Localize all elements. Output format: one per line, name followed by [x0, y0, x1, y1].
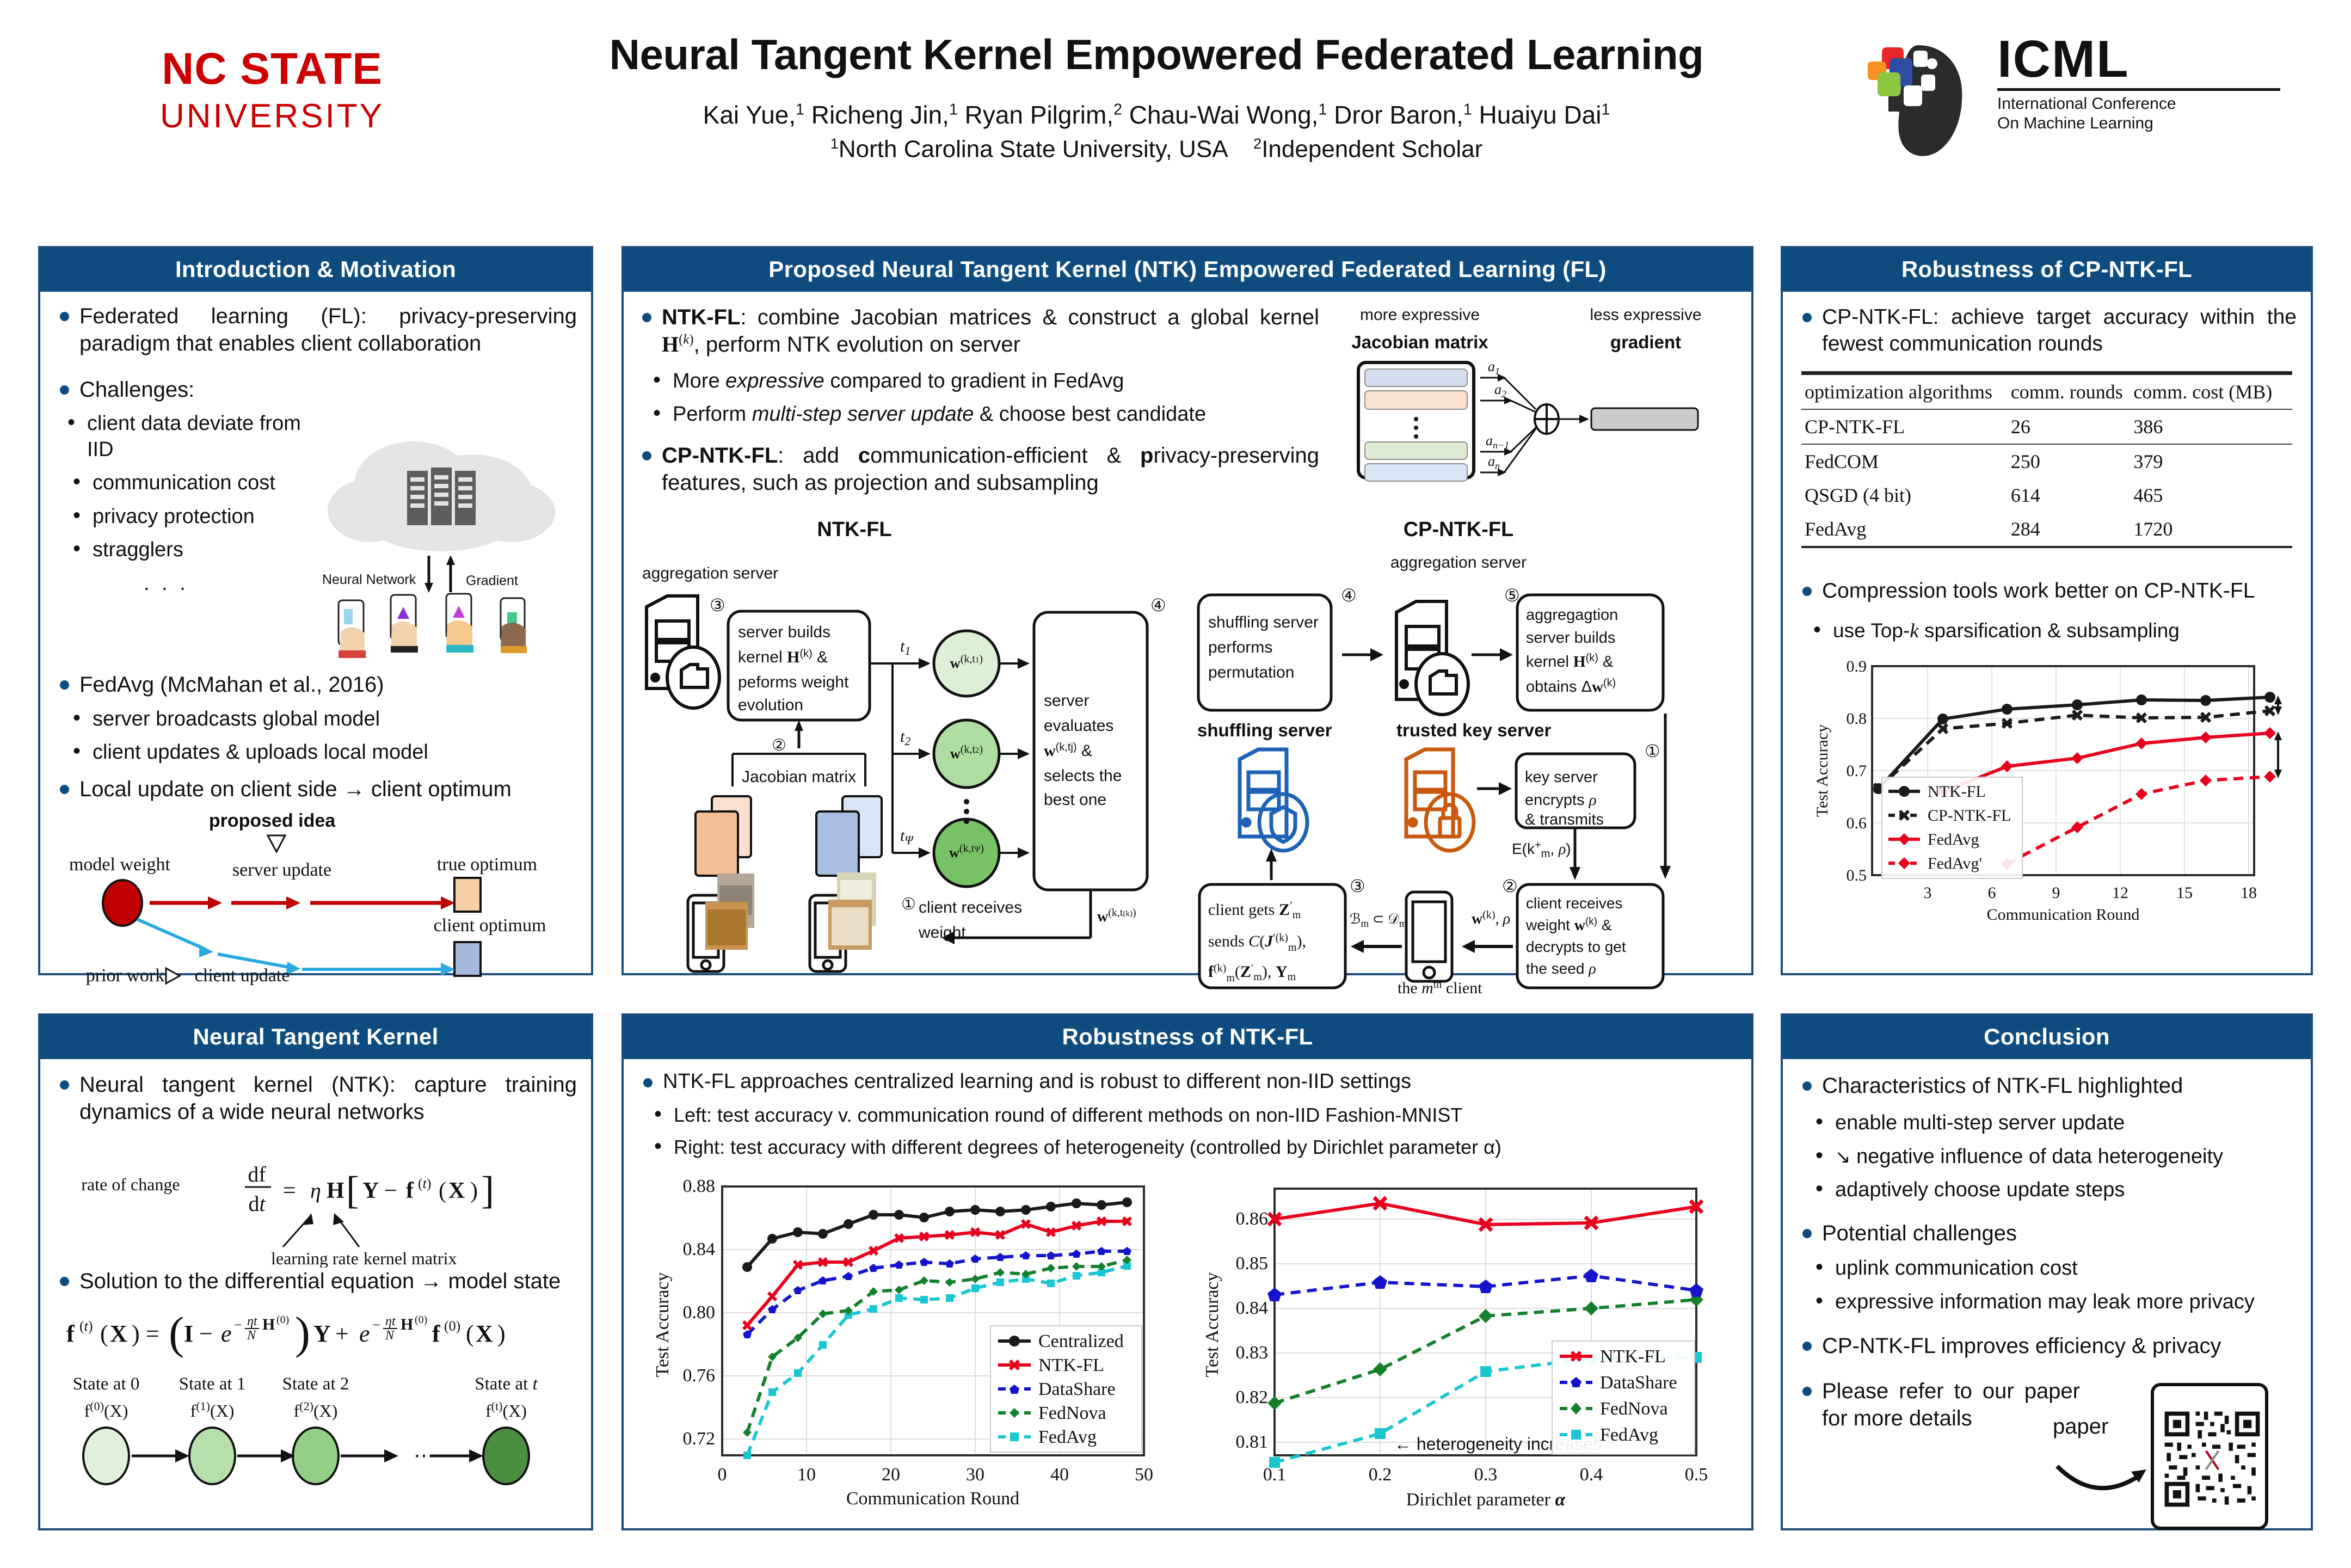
- cpntkfl-batch-label: ℬm ⊂ 𝒟m: [1350, 911, 1407, 930]
- icml-head-icon: [1867, 35, 1986, 161]
- panel-proposed-body: NTK-FL: combine Jacobian matrices & cons…: [624, 292, 1751, 996]
- cpntkfl-step-1-marker: ①: [1645, 741, 1660, 761]
- icml-sub-line1: International Conference: [1997, 94, 2280, 113]
- icml-abbr: ICML: [1997, 34, 2280, 84]
- svg-text:0.6: 0.6: [1847, 814, 1867, 832]
- svg-text:evolution: evolution: [738, 696, 803, 714]
- svg-text:X: X: [110, 1320, 127, 1347]
- chart1-xlabel: Communication Round: [846, 1489, 1019, 1509]
- svg-text:0.8: 0.8: [1847, 710, 1867, 728]
- qr-code[interactable]: [2151, 1383, 2268, 1530]
- svg-text:f(2)(X): f(2)(X): [294, 1399, 338, 1421]
- svg-text:−: −: [199, 1320, 213, 1347]
- svg-text:15: 15: [2176, 884, 2193, 902]
- svg-text:0.88: 0.88: [683, 1176, 716, 1196]
- svg-text:): ): [132, 1320, 140, 1347]
- svg-text:): ): [470, 1178, 478, 1203]
- svg-text:0.4: 0.4: [1580, 1465, 1603, 1485]
- ntkfl-aggregation-server-label: aggregation server: [642, 564, 778, 582]
- neural-network-label: Neural Network: [322, 572, 416, 587]
- chart1-legend-fednova: FedNova: [1038, 1403, 1106, 1423]
- svg-text:client gets Z′m: client gets Z′m: [1208, 899, 1301, 921]
- panel-proposed-title: Proposed Neural Tangent Kernel (NTK) Emp…: [624, 248, 1751, 292]
- cpntkfl-diagram-title: CP-NTK-FL: [1404, 518, 1514, 541]
- state-label-2: State at 2: [282, 1374, 349, 1394]
- ntkfl-step-1-marker: ①: [901, 895, 916, 913]
- svg-text:Y: Y: [313, 1320, 331, 1347]
- results-table: optimization algorithms comm. rounds com…: [1801, 371, 2292, 548]
- model-weight-label: model weight: [69, 854, 171, 875]
- svg-text:40: 40: [1050, 1465, 1069, 1485]
- svg-text:(0): (0): [444, 1318, 460, 1334]
- svg-text:permutation: permutation: [1208, 663, 1294, 681]
- svg-text:[: [: [346, 1169, 359, 1212]
- svg-text:key server: key server: [1525, 768, 1598, 786]
- table-cell-algo: FedCOM: [1801, 444, 2008, 478]
- chart3-legend-fednova: FedNova: [1600, 1399, 1668, 1419]
- svg-text:client receives: client receives: [919, 899, 1022, 917]
- panel-robustness-ntkfl: Robustness of NTK-FL NTK-FL approaches c…: [621, 1013, 1753, 1530]
- cpntkfl-mth-client-label: the mth client: [1398, 979, 1482, 993]
- icml-wordmark: ICML International Conference On Machine…: [1997, 34, 2280, 133]
- cpntkfl-trusted-key-server-title: trusted key server: [1396, 720, 1551, 740]
- cpntkfl-step-4-marker: ④: [1341, 586, 1357, 605]
- conclusion-bullet-2: Potential challenges: [1797, 1220, 2297, 1247]
- proposed-sub-2: Perform multi-step server update & choos…: [649, 402, 1319, 428]
- panel-neural-tangent-kernel: Neural Tangent Kernel Neural tangent ker…: [38, 1013, 593, 1530]
- ntkfl-diagram-title: NTK-FL: [817, 518, 891, 541]
- ntkfl-weight-label: w(k,t(k)): [1097, 907, 1136, 925]
- cpntkfl-shuffling-server-title: shuffling server: [1197, 720, 1332, 740]
- true-optimum-node: [454, 878, 481, 912]
- jacobian-a1-label: a1: [1488, 359, 1500, 377]
- table-cell-cost: 379: [2130, 444, 2292, 478]
- svg-text:H: H: [262, 1315, 275, 1333]
- ntk-ode-equation: rate of change df dt = η H [ Y − f (t) (…: [54, 1132, 577, 1268]
- intro-challenge-2: communication cost: [69, 470, 310, 496]
- svg-text:performs: performs: [1208, 638, 1272, 656]
- chart2-legend-ntkfl: NTK-FL: [1928, 783, 1986, 801]
- ntkfl-step-4-marker: ④: [1150, 595, 1166, 615]
- svg-text:peforms weight: peforms weight: [738, 673, 849, 691]
- proposed-bullet-cpntkfl: CP-NTK-FL: add communication-efficient &…: [637, 442, 1319, 497]
- decrease-arrow-icon: ↘: [1835, 1146, 1851, 1169]
- curved-arrow-icon: [2053, 1441, 2162, 1501]
- svg-text:f(1)(X): f(1)(X): [190, 1399, 235, 1421]
- svg-text:server builds: server builds: [1526, 629, 1615, 647]
- trusted-key-server-icon: [1406, 749, 1474, 851]
- table-row: FedCOM 250 379: [1801, 444, 2292, 478]
- svg-text:kernel H(k) &: kernel H(k) &: [738, 648, 828, 666]
- intro-fedavg-1: server broadcasts global model: [69, 706, 577, 733]
- proposed-sub-1: More expressive compared to gradient in …: [649, 368, 1319, 395]
- chart3-legend-ntkfl: NTK-FL: [1600, 1346, 1666, 1367]
- more-expressive-label: more expressive: [1360, 306, 1480, 324]
- chart2-ylabel: Test Accuracy: [1813, 724, 1831, 816]
- svg-text:0.82: 0.82: [1236, 1387, 1269, 1407]
- svg-text:e: e: [359, 1320, 370, 1347]
- chart1-legend-ntkfl: NTK-FL: [1038, 1355, 1104, 1375]
- svg-text:client receives: client receives: [1526, 895, 1622, 912]
- svg-text:(: (: [100, 1320, 108, 1347]
- svg-text:0.7: 0.7: [1847, 762, 1867, 780]
- conclusion-sub-2: ↘ negative influence of data heterogenei…: [1811, 1144, 2297, 1170]
- cpntkfl-client-phone-icon: [1406, 892, 1452, 981]
- chart2-legend-fedavg: FedAvg: [1928, 831, 1979, 848]
- poster-root: NC STATE UNIVERSITY Neural Tangent Kerne…: [0, 0, 2351, 1567]
- intro-challenge-1: client data deviate from IID: [63, 411, 310, 463]
- svg-text:=: =: [146, 1320, 159, 1347]
- ntkfl-jacobian-label: Jacobian matrix: [742, 768, 856, 786]
- svg-text:0.76: 0.76: [683, 1366, 716, 1386]
- svg-text:0.9: 0.9: [1847, 657, 1867, 675]
- panel-introduction-title: Introduction & Motivation: [40, 248, 591, 292]
- svg-text:server: server: [1044, 692, 1089, 710]
- rate-of-change-label: rate of change: [81, 1175, 180, 1194]
- chart2-legend-fedavgprime: FedAvg': [1928, 854, 1982, 872]
- nc-state-line2: UNIVERSITY: [82, 97, 463, 136]
- intro-fedavg-2: client updates & uploads local model: [69, 740, 577, 766]
- panel-ntk-body: Neural tangent kernel (NTK): capture tra…: [40, 1059, 591, 1517]
- ntkfl-architecture-diagram: NTK-FL aggregation server ③: [637, 514, 1186, 996]
- poster-header: NC STATE UNIVERSITY Neural Tangent Kerne…: [0, 0, 2351, 223]
- svg-text:(0): (0): [415, 1314, 427, 1326]
- gradient-vector-box: [1591, 408, 1698, 430]
- conclusion-bullet-3: CP-NTK-FL improves efficiency & privacy: [1797, 1332, 2297, 1360]
- ntkfl-step-3-marker: ③: [710, 595, 725, 615]
- svg-text:selects the: selects the: [1044, 767, 1122, 785]
- svg-text:ηt: ηt: [247, 1314, 258, 1329]
- svg-text:20: 20: [882, 1465, 900, 1485]
- chart1-legend-centralized: Centralized: [1038, 1331, 1124, 1351]
- svg-text:0.84: 0.84: [683, 1239, 716, 1259]
- svg-text:9: 9: [2052, 884, 2060, 902]
- svg-text:decrypts to get: decrypts to get: [1526, 938, 1626, 955]
- ntk-state-chain-diagram: State at 0 State at 1 State at 2 State a…: [54, 1370, 577, 1506]
- icml-divider: [1997, 88, 2280, 91]
- state-label-0: State at 0: [73, 1374, 140, 1394]
- proposed-idea-diagram: proposed idea model weight server update…: [54, 806, 577, 986]
- table-cell-rounds: 250: [2008, 444, 2131, 478]
- icml-logo: ICML International Conference On Machine…: [1867, 30, 2280, 166]
- panel-introduction-body: Federated learning (FL): privacy-preserv…: [40, 292, 591, 997]
- robust-cp-bullet-2: Compression tools work better on CP-NTK-…: [1797, 577, 2297, 604]
- panel-robustness-ntkfl-body: NTK-FL approaches centralized learning a…: [624, 1059, 1751, 1515]
- svg-text:]: ]: [481, 1169, 494, 1212]
- chart1-ylabel: Test Accuracy: [653, 1272, 673, 1377]
- conclusion-bullet-4: Please refer to our paper for more detai…: [1797, 1378, 2080, 1432]
- svg-text:): ): [295, 1308, 310, 1358]
- ntk-bullet-1: Neural tangent kernel (NTK): capture tra…: [54, 1071, 577, 1126]
- conclusion-sub-2-label: negative influence of data heterogeneity: [1856, 1145, 2223, 1168]
- learning-rate-annotation: learning rate: [271, 1249, 359, 1268]
- prior-work-marker-icon: [166, 968, 180, 983]
- ntk-bullet-2: Solution to the differential equation → …: [54, 1268, 577, 1295]
- jacobian-a2-label: a2: [1494, 382, 1506, 399]
- svg-text:f(0)(X): f(0)(X): [84, 1399, 128, 1421]
- svg-text:ηt: ηt: [385, 1314, 396, 1329]
- phone-hand-icons: [339, 594, 527, 658]
- robust-cp-sub-1: use Top-k sparsification & subsampling: [1809, 618, 2297, 644]
- table-col-rounds: comm. rounds: [2008, 374, 2131, 410]
- panel-conclusion-title: Conclusion: [1783, 1016, 2311, 1059]
- panel-conclusion: Conclusion Characteristics of NTK-FL hig…: [1781, 1013, 2313, 1530]
- svg-text:(: (: [169, 1308, 184, 1358]
- svg-text:): ): [497, 1320, 506, 1347]
- state-node-1: [189, 1428, 235, 1484]
- svg-text:X: X: [448, 1178, 465, 1203]
- ntkfl-client-receives-text: client receives weight: [918, 899, 1022, 942]
- upload-arrowhead: [446, 555, 455, 565]
- chart-dirichlet-heterogeneity: 0.860.85 0.840.83 0.820.81 0.10.20.3 0.4…: [1182, 1167, 1732, 1515]
- chart-cpntkfl-compression: 0.90.8 0.70.6 0.5 369 121518 Communicati…: [1797, 652, 2287, 946]
- table-cell-cost: 386: [2130, 409, 2292, 444]
- cpntkfl-step-2-marker: ②: [1502, 876, 1518, 896]
- chart2-fedavgprime-markers: [2001, 771, 2276, 870]
- table-cell-rounds: 26: [2008, 409, 2131, 444]
- svg-text:3: 3: [1924, 884, 1932, 902]
- svg-text:18: 18: [2241, 884, 2257, 902]
- jacobian-vs-gradient-figure: more expressive less expressive Jacobian…: [1325, 304, 1738, 511]
- svg-text:0: 0: [718, 1465, 727, 1485]
- robust-cp-bullet-1: CP-NTK-FL: achieve target accuracy withi…: [1797, 304, 2297, 357]
- svg-text:0.81: 0.81: [1236, 1432, 1269, 1452]
- proposed-idea-label: proposed idea: [209, 810, 336, 831]
- table-cell-cost: 465: [2130, 478, 2292, 512]
- svg-text:obtains Δw(k): obtains Δw(k): [1526, 677, 1616, 696]
- svg-text:50: 50: [1135, 1465, 1153, 1485]
- results-table-wrapper: optimization algorithms comm. rounds com…: [1797, 371, 2297, 548]
- gradient-label: Gradient: [466, 573, 518, 588]
- intro-challenge-5: . . .: [120, 571, 310, 597]
- svg-text:0.86: 0.86: [1236, 1209, 1269, 1229]
- cpntkfl-architecture-diagram: CP-NTK-FL aggregation server ④ shuffling…: [1186, 514, 1736, 996]
- jacobian-matrix-title: Jacobian matrix: [1351, 332, 1488, 352]
- table-col-cost: comm. cost (MB): [2130, 374, 2292, 410]
- state-node-2: [293, 1428, 339, 1484]
- chart3-legend: NTK-FL DataShare FedNova FedAvg: [1552, 1341, 1695, 1454]
- gradient-title: gradient: [1610, 332, 1681, 352]
- table-cell-rounds: 284: [2008, 512, 2131, 547]
- client-update-label: client update: [195, 966, 290, 986]
- panel-introduction: Introduction & Motivation Federated lear…: [38, 246, 593, 975]
- qr-paper-label: paper: [2053, 1415, 2162, 1439]
- cpntkfl-w-rho-label: w(k), ρ: [1472, 909, 1510, 927]
- intro-bullet-2: Challenges:: [54, 376, 577, 403]
- svg-text:aggregagtion: aggregagtion: [1526, 606, 1618, 624]
- svg-text:0.84: 0.84: [1236, 1298, 1269, 1318]
- svg-text:Y: Y: [362, 1178, 379, 1203]
- svg-text:0.80: 0.80: [683, 1302, 716, 1323]
- nc-state-logo: NC STATE UNIVERSITY: [82, 44, 463, 136]
- svg-text:dt: dt: [248, 1191, 266, 1216]
- less-expressive-label: less expressive: [1590, 306, 1701, 324]
- state-node-t: [483, 1428, 529, 1484]
- svg-text:the seed ρ: the seed ρ: [1526, 960, 1596, 977]
- svg-text:e: e: [221, 1320, 232, 1347]
- svg-text:& transmits: & transmits: [1525, 811, 1604, 828]
- ntkfl-tpsi-label: tΨ: [900, 827, 914, 847]
- author-list: Kai Yue,1 Richeng Jin,1 Ryan Pilgrim,2 C…: [490, 100, 1823, 130]
- server-rack-icon: [407, 468, 476, 525]
- cpntkfl-box3-text: client gets Z′m sends C(J′(k)m), f(k)m(Z…: [1208, 899, 1306, 984]
- svg-text:f: f: [432, 1320, 441, 1347]
- panel-robustness-cpntkfl: Robustness of CP-NTK-FL CP-NTK-FL: achie…: [1781, 246, 2313, 975]
- aggregation-server-icon: [647, 596, 719, 708]
- svg-text:weight w(k) &: weight w(k) &: [1525, 916, 1612, 934]
- svg-text:N: N: [247, 1329, 257, 1343]
- table-cell-rounds: 614: [2008, 478, 2131, 512]
- panel-conclusion-body: Characteristics of NTK-FL highlighted en…: [1783, 1059, 2311, 1568]
- panel-robustness-cpntkfl-body: CP-NTK-FL: achieve target accuracy withi…: [1783, 292, 2311, 957]
- table-cell-algo: QSGD (4 bit): [1801, 478, 2008, 512]
- conclusion-sub-4: uplink communication cost: [1811, 1256, 2297, 1282]
- svg-text:=: =: [283, 1178, 296, 1203]
- robust-ntk-sub-2: Right: test accuracy with different degr…: [650, 1135, 1737, 1159]
- svg-text:(: (: [439, 1178, 446, 1203]
- qr-paper-label-group: paper: [2053, 1415, 2162, 1504]
- conclusion-sub-3: adaptively choose update steps: [1811, 1177, 2297, 1203]
- svg-text:0.85: 0.85: [1236, 1253, 1269, 1274]
- cpntkfl-step-3-marker: ③: [1350, 876, 1365, 896]
- svg-text:+: +: [335, 1320, 349, 1347]
- table-header-row: optimization algorithms comm. rounds com…: [1801, 374, 2292, 410]
- cpntkfl-encryption-label: E(k+m, ρ): [1512, 839, 1571, 860]
- client-optimum-label: client optimum: [434, 915, 546, 936]
- intro-challenge-4: stragglers: [69, 537, 310, 563]
- svg-text:f: f: [406, 1178, 414, 1203]
- chart1-legend-fedavg: FedAvg: [1038, 1427, 1097, 1447]
- svg-text:−: −: [384, 1178, 397, 1203]
- svg-text:6: 6: [1988, 884, 1996, 902]
- intro-challenge-3: privacy protection: [69, 504, 310, 530]
- svg-text:evaluates: evaluates: [1044, 717, 1113, 735]
- robust-ntk-bullet-1: NTK-FL approaches centralized learning a…: [638, 1069, 1737, 1095]
- chart2-xlabel: Communication Round: [1987, 906, 2140, 924]
- fl-cloud-figure: Neural Network Gradient: [310, 421, 577, 666]
- proposed-idea-marker-icon: [268, 835, 285, 852]
- nc-state-line1: NC STATE: [82, 44, 463, 95]
- proposed-ntkfl-bold: NTK-FL: [662, 305, 740, 329]
- svg-text:0.2: 0.2: [1369, 1465, 1392, 1485]
- svg-text:0.5: 0.5: [1685, 1465, 1708, 1485]
- svg-text:f(t)(X): f(t)(X): [485, 1399, 527, 1421]
- cpntkfl-box1-text: key server encrypts ρ & transmits: [1525, 768, 1604, 828]
- svg-text:(: (: [466, 1320, 474, 1347]
- svg-text:H: H: [327, 1178, 344, 1203]
- chart-ntkfl-communication-round: 0.880.84 0.800.76 0.72 01020 304050 Comm…: [638, 1167, 1182, 1515]
- panel-proposed-method: Proposed Neural Tangent Kernel (NTK) Emp…: [621, 246, 1753, 975]
- qr-code-matrix: [2161, 1393, 2264, 1526]
- prior-work-label: prior work: [86, 966, 164, 986]
- title-block: Neural Tangent Kernel Empowered Federate…: [490, 30, 1823, 163]
- chart1-legend: Centralized NTK-FL DataShare FedNova Fed…: [990, 1326, 1142, 1452]
- client-optimum-node: [454, 942, 481, 976]
- panel-ntk-title: Neural Tangent Kernel: [40, 1016, 591, 1059]
- page-title: Neural Tangent Kernel Empowered Federate…: [490, 30, 1823, 79]
- ntkfl-t2-label: t2: [900, 728, 910, 748]
- table-cell-algo: FedAvg: [1801, 512, 2008, 547]
- table-cell-algo: CP-NTK-FL: [1801, 409, 2008, 444]
- conclusion-sub-1: enable multi-step server update: [1811, 1110, 2297, 1136]
- svg-text:η: η: [310, 1178, 321, 1203]
- intro-bullet-1: Federated learning (FL): privacy-preserv…: [54, 303, 577, 358]
- ntkfl-data-thumbnails: [705, 872, 876, 950]
- state-node-0: [83, 1428, 129, 1484]
- ntkfl-t1-label: t1: [900, 637, 910, 657]
- svg-text:encrypts ρ: encrypts ρ: [1525, 791, 1597, 809]
- chart3-legend-datashare: DataShare: [1600, 1373, 1677, 1393]
- svg-text:−: −: [372, 1317, 380, 1333]
- table-row: FedAvg 284 1720: [1801, 512, 2292, 547]
- table-row: QSGD (4 bit) 614 465: [1801, 478, 2292, 512]
- chart3-ylabel: Test Accuracy: [1202, 1272, 1222, 1377]
- chart1-legend-datashare: DataShare: [1038, 1379, 1116, 1399]
- svg-text:30: 30: [966, 1465, 984, 1485]
- proposed-bullet-ntkfl: NTK-FL: combine Jacobian matrices & cons…: [637, 304, 1319, 359]
- jacobian-an1-label: an−1: [1486, 433, 1509, 451]
- cpntkfl-aggregation-server-icon: [1396, 601, 1468, 715]
- intro-bullet-3: FedAvg (McMahan et al., 2016): [54, 671, 577, 698]
- intro-bullet-4: Local update on client side → client opt…: [54, 776, 577, 803]
- ntkfl-step-2-marker: ②: [772, 736, 786, 754]
- true-optimum-label: true optimum: [437, 854, 537, 875]
- svg-text:best one: best one: [1044, 791, 1106, 809]
- cpntkfl-aggregation-server-label: aggregation server: [1390, 554, 1527, 571]
- kernel-matrix-annotation: kernel matrix: [364, 1249, 457, 1268]
- jacobian-an-label: an: [1488, 453, 1500, 471]
- conclusion-sub-5: expressive information may leak more pri…: [1811, 1289, 2297, 1315]
- download-arrowhead: [424, 583, 433, 593]
- svg-text:weight: weight: [918, 924, 966, 942]
- svg-text:shuffling server: shuffling server: [1208, 613, 1319, 631]
- ntk-solution-equation: f (t) (X) = ( I − e − ηt N H (0): [54, 1296, 577, 1367]
- proposed-cpntkfl-bold: CP-NTK-FL: [662, 444, 778, 468]
- svg-text:0.72: 0.72: [683, 1429, 716, 1449]
- svg-text:kernel H(k) &: kernel H(k) &: [1526, 652, 1613, 671]
- svg-text:X: X: [476, 1320, 493, 1347]
- cpntkfl-step-5-marker: ⑤: [1504, 586, 1520, 605]
- state-chain-ellipsis: ⋯: [414, 1444, 434, 1467]
- table-cell-cost: 1720: [2130, 512, 2292, 547]
- svg-text:f: f: [66, 1320, 75, 1347]
- chart2-legend-cpntkfl: CP-NTK-FL: [1928, 807, 2011, 825]
- svg-text:H: H: [401, 1315, 413, 1333]
- svg-text:(t): (t): [418, 1176, 432, 1191]
- panel-robustness-ntkfl-title: Robustness of NTK-FL: [624, 1016, 1751, 1059]
- svg-text:(0): (0): [276, 1314, 289, 1326]
- affiliation-list: 1North Carolina State University, USA 2I…: [490, 135, 1823, 163]
- panel-robustness-cpntkfl-title: Robustness of CP-NTK-FL: [1783, 248, 2311, 292]
- svg-text:12: 12: [2112, 884, 2128, 902]
- svg-text:N: N: [385, 1329, 395, 1343]
- shuffling-server-icon: [1240, 749, 1307, 851]
- state-label-1: State at 1: [179, 1374, 246, 1394]
- chart2-legend: NTK-FL CP-NTK-FL FedAvg FedAvg': [1882, 777, 2022, 878]
- svg-text:0.83: 0.83: [1236, 1343, 1269, 1363]
- table-col-algorithms: optimization algorithms: [1801, 374, 2008, 410]
- svg-text:−: −: [234, 1317, 242, 1333]
- svg-text:(t): (t): [79, 1318, 93, 1334]
- server-update-label: server update: [232, 860, 331, 880]
- chart3-xlabel: Dirichlet parameter α: [1406, 1490, 1566, 1510]
- svg-text:I: I: [184, 1320, 193, 1347]
- icml-sub-line2: On Machine Learning: [1997, 114, 2280, 133]
- svg-text:df: df: [248, 1162, 266, 1186]
- chart3-legend-fedavg: FedAvg: [1600, 1425, 1658, 1445]
- state-label-t: State at t: [475, 1374, 538, 1394]
- conclusion-bullet-1: Characteristics of NTK-FL highlighted: [1797, 1072, 2297, 1099]
